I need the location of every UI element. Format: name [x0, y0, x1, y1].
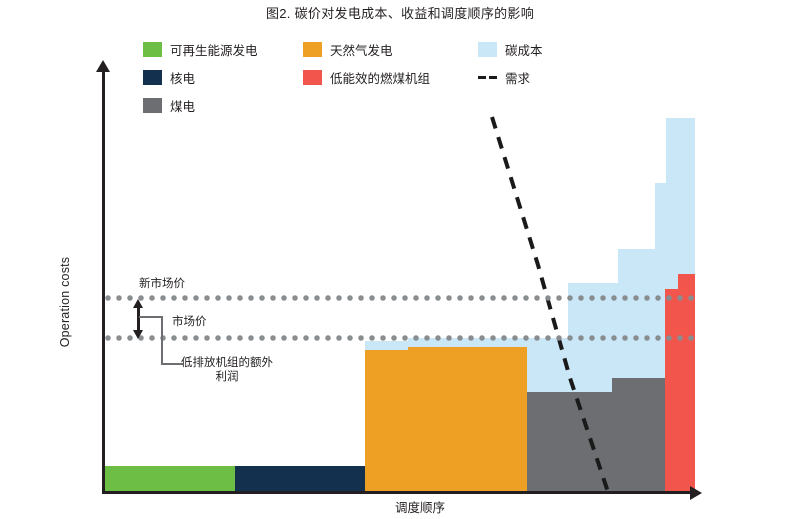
price-gap-arrow-shaft	[137, 306, 140, 332]
annotation-extra-profit: 低排放机组的额外 利润	[172, 356, 282, 385]
price-gap-arrow-down-icon	[133, 330, 143, 339]
annotation-extra-profit-line-2: 利润	[172, 370, 282, 384]
bar-inefficient-coal-a	[665, 289, 678, 493]
y-axis-arrow-icon	[96, 60, 110, 72]
extra-profit-leader-vertical	[161, 316, 163, 364]
bar-coal-a	[527, 392, 612, 493]
figure-root: 图2. 碳价对发电成本、收益和调度顺序的影响 可再生能源发电 核电 煤电 天然气…	[0, 0, 800, 519]
extra-profit-leader-top	[139, 316, 162, 318]
bar-gas-b	[408, 347, 527, 493]
bar-nuclear	[235, 466, 365, 493]
bar-inefficient-coal-b	[678, 274, 695, 493]
annotation-market-price: 市场价	[172, 313, 207, 329]
bar-renewables	[105, 466, 235, 493]
bar-gas-a	[365, 350, 408, 493]
y-axis	[102, 68, 105, 493]
bar-coal-b	[612, 378, 665, 493]
x-axis-label: 调度顺序	[330, 497, 510, 516]
annotation-new-market-price: 新市场价	[139, 275, 185, 291]
x-axis-arrow-icon	[690, 486, 702, 500]
plot-area: 新市场价 市场价 低排放机组的额外 利润 Operation costs 调度顺…	[0, 0, 800, 519]
x-axis	[102, 491, 694, 494]
annotation-extra-profit-line-1: 低排放机组的额外	[172, 356, 282, 370]
market-price-line	[105, 335, 695, 341]
y-axis-label: Operation costs	[58, 232, 72, 372]
new-market-price-line	[105, 295, 695, 301]
